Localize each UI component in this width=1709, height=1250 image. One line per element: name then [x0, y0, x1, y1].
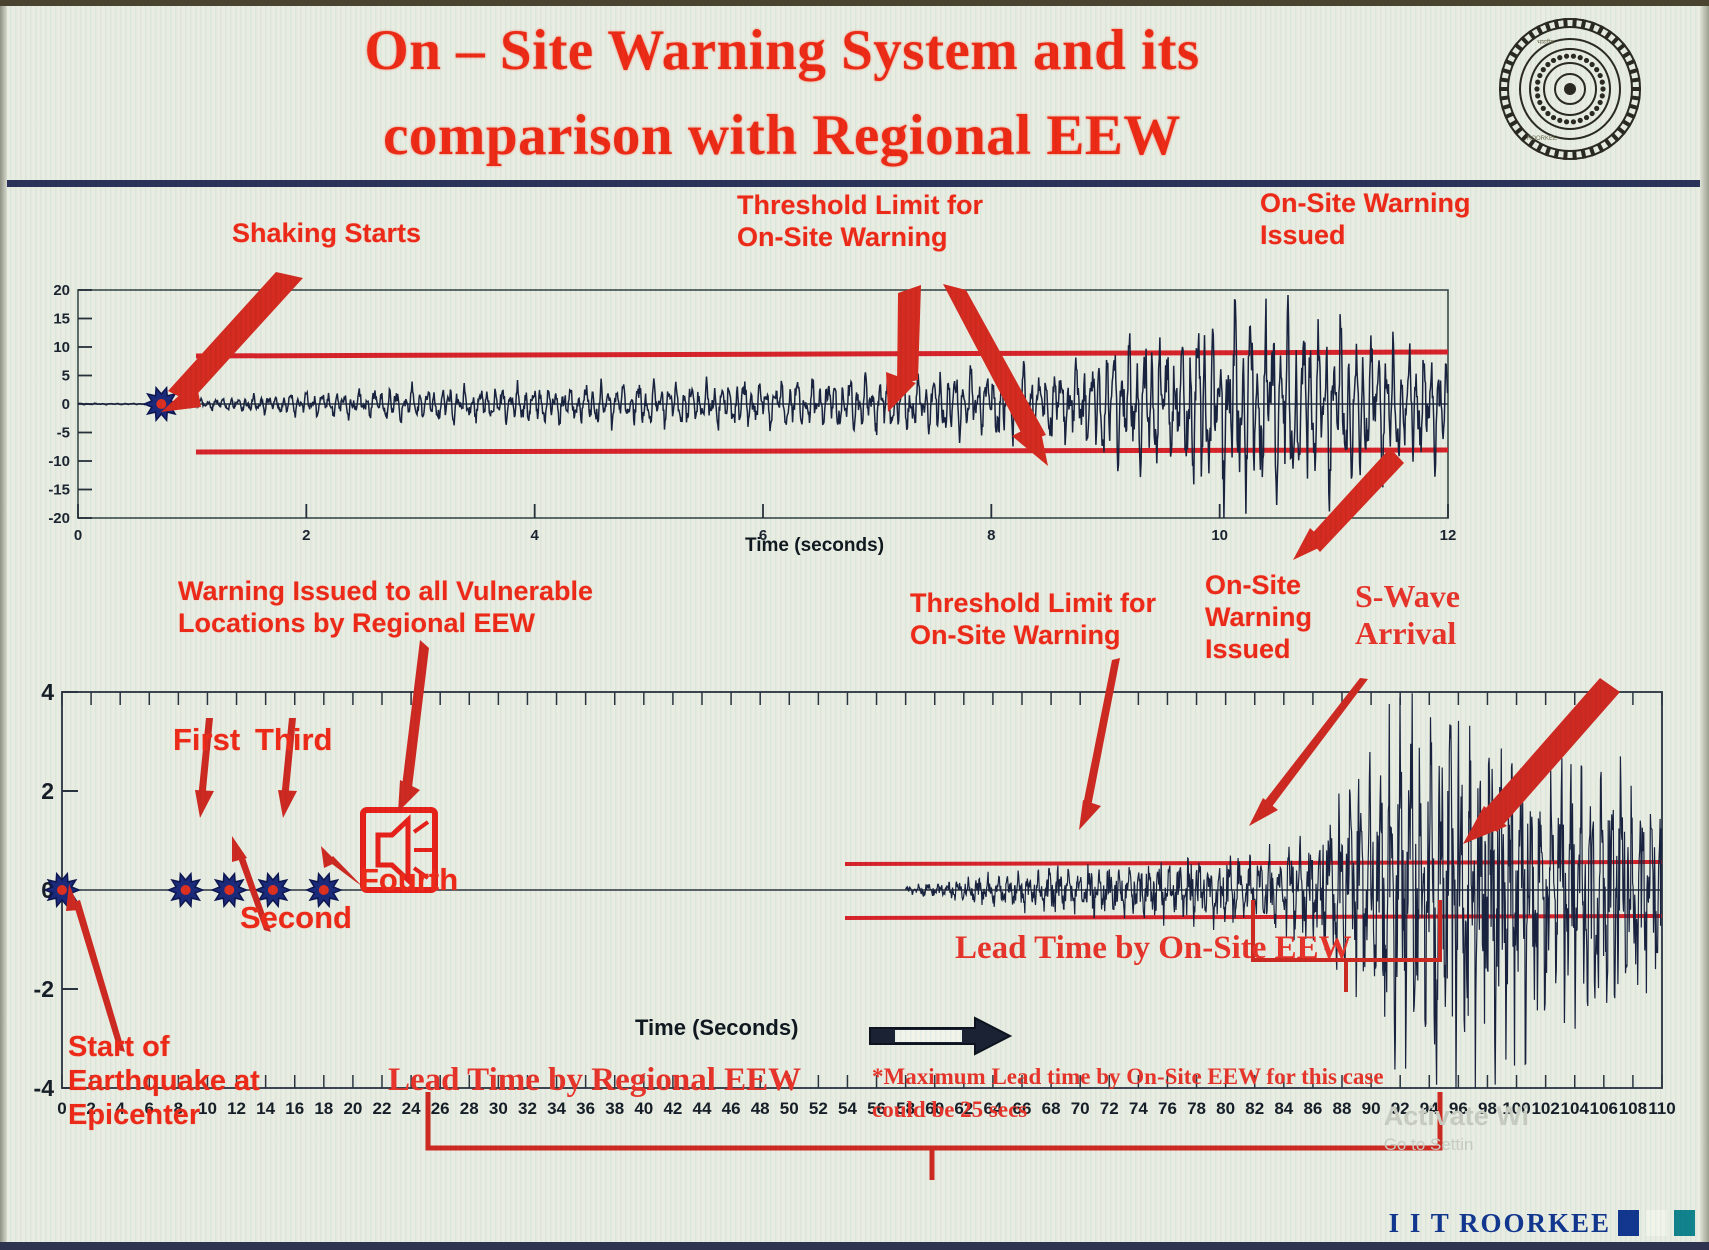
svg-text:30: 30 [489, 1099, 508, 1118]
svg-text:-2: -2 [34, 976, 54, 1002]
annotation-second: Second [240, 900, 352, 937]
svg-text:4: 4 [41, 679, 54, 705]
svg-text:2: 2 [302, 527, 310, 544]
svg-text:52: 52 [809, 1099, 828, 1118]
svg-text:0: 0 [62, 396, 70, 413]
svg-text:40: 40 [634, 1099, 653, 1118]
annotation-footnote: *Maximum Lead time by On-Site EEW for th… [872, 1060, 1384, 1127]
svg-text:48: 48 [751, 1099, 770, 1118]
photo-edge-left [0, 0, 7, 1250]
acceleration-trace [78, 295, 1448, 518]
svg-text:32: 32 [518, 1099, 537, 1118]
svg-text:18: 18 [314, 1099, 333, 1118]
svg-text:10: 10 [53, 339, 70, 356]
footer-square-white [1646, 1210, 1667, 1236]
svg-text:24: 24 [402, 1099, 421, 1118]
svg-text:104: 104 [1561, 1099, 1590, 1118]
iit-roorkee-seal-icon: भारतीय ROORKEE [1495, 14, 1645, 164]
watermark-line1: Activate Wi [1384, 1101, 1529, 1131]
annotation-bottom-threshold: Threshold Limit for On-Site Warning [910, 588, 1156, 652]
svg-text:28: 28 [460, 1099, 479, 1118]
footer-square-navy [1618, 1210, 1639, 1236]
photo-edge-bottom [0, 1242, 1709, 1250]
title-band: On – Site Warning System and its compari… [7, 6, 1700, 187]
svg-text:2: 2 [41, 778, 54, 804]
photo-edge-right [1700, 0, 1709, 1250]
footer-square-teal [1674, 1210, 1695, 1236]
watermark-line2: Go to Settin [1384, 1134, 1529, 1155]
annotation-warning-issued: On-Site Warning Issued [1260, 188, 1471, 252]
svg-text:0: 0 [57, 1099, 66, 1118]
page-title-line2: comparison with Regional EEW [177, 93, 1387, 178]
annotation-threshold-limit: Threshold Limit for On-Site Warning [737, 190, 983, 254]
svg-text:4: 4 [530, 527, 539, 544]
threshold-line-upper [196, 352, 1448, 356]
svg-text:110: 110 [1648, 1099, 1675, 1118]
svg-text:-10: -10 [48, 453, 70, 470]
slide-photo: On – Site Warning System and its compari… [0, 0, 1709, 1250]
svg-text:8: 8 [987, 527, 995, 544]
top-chart-panel: -20-15-10-505101520 024681012 [0, 180, 1709, 580]
annotation-regional-warning: Warning Issued to all Vulnerable Locatio… [178, 576, 593, 640]
svg-text:5: 5 [62, 368, 70, 385]
time-direction-arrow-icon [870, 1018, 1010, 1054]
footer-branding: I I T ROORKEE [1389, 1206, 1695, 1240]
page-title: On – Site Warning System and its compari… [177, 8, 1387, 178]
page-title-line1: On – Site Warning System and its [177, 8, 1387, 93]
svg-text:16: 16 [285, 1099, 304, 1118]
footer-org-label: I I T ROORKEE [1389, 1208, 1611, 1239]
svg-text:106: 106 [1590, 1099, 1618, 1118]
annotation-third: Third [255, 722, 333, 759]
photo-edge-top [0, 0, 1709, 6]
svg-text:20: 20 [343, 1099, 362, 1118]
annotation-lead-time-onsite: Lead Time by On-Site EEW [955, 930, 1352, 968]
bottom-chart-panel: 0246810121416182022242628303234363840424… [0, 600, 1709, 1160]
svg-text:भारतीय: भारतीय [1537, 38, 1554, 46]
svg-text:ROORKEE: ROORKEE [1527, 136, 1557, 142]
svg-text:54: 54 [838, 1099, 857, 1118]
svg-text:50: 50 [780, 1099, 799, 1118]
svg-text:36: 36 [576, 1099, 595, 1118]
svg-text:46: 46 [722, 1099, 741, 1118]
annotation-first: First [173, 722, 240, 759]
svg-text:38: 38 [605, 1099, 624, 1118]
svg-text:42: 42 [663, 1099, 682, 1118]
annotation-fourth: Fourth [360, 862, 458, 899]
annotation-s-wave-arrival: S-Wave Arrival [1355, 578, 1460, 652]
svg-text:10: 10 [1211, 527, 1228, 544]
annotation-shaking-starts: Shaking Starts [232, 218, 421, 250]
svg-text:-5: -5 [57, 425, 70, 442]
svg-text:20: 20 [53, 282, 70, 299]
svg-text:-20: -20 [48, 510, 70, 527]
svg-text:102: 102 [1531, 1099, 1559, 1118]
activate-windows-watermark: Activate Wi Go to Settin [1384, 1100, 1529, 1155]
svg-text:15: 15 [53, 311, 70, 328]
svg-text:34: 34 [547, 1099, 566, 1118]
svg-text:26: 26 [431, 1099, 450, 1118]
svg-text:44: 44 [693, 1099, 712, 1118]
svg-text:-4: -4 [34, 1075, 55, 1101]
svg-text:12: 12 [1440, 527, 1457, 544]
svg-text:-15: -15 [48, 482, 70, 499]
annotation-lead-time-regional: Lead Time by Regional EEW [388, 1062, 801, 1100]
top-chart-xlabel: Time (seconds) [745, 535, 884, 557]
annotation-onsite-warning-issued: On-Site Warning Issued [1205, 570, 1312, 666]
svg-text:22: 22 [373, 1099, 392, 1118]
svg-text:108: 108 [1619, 1099, 1647, 1118]
bottom-chart-xlabel: Time (Seconds) [635, 1015, 798, 1041]
annotation-start-of-earthquake: Start of Earthquake at Epicenter [68, 1030, 260, 1133]
svg-text:0: 0 [74, 527, 82, 544]
